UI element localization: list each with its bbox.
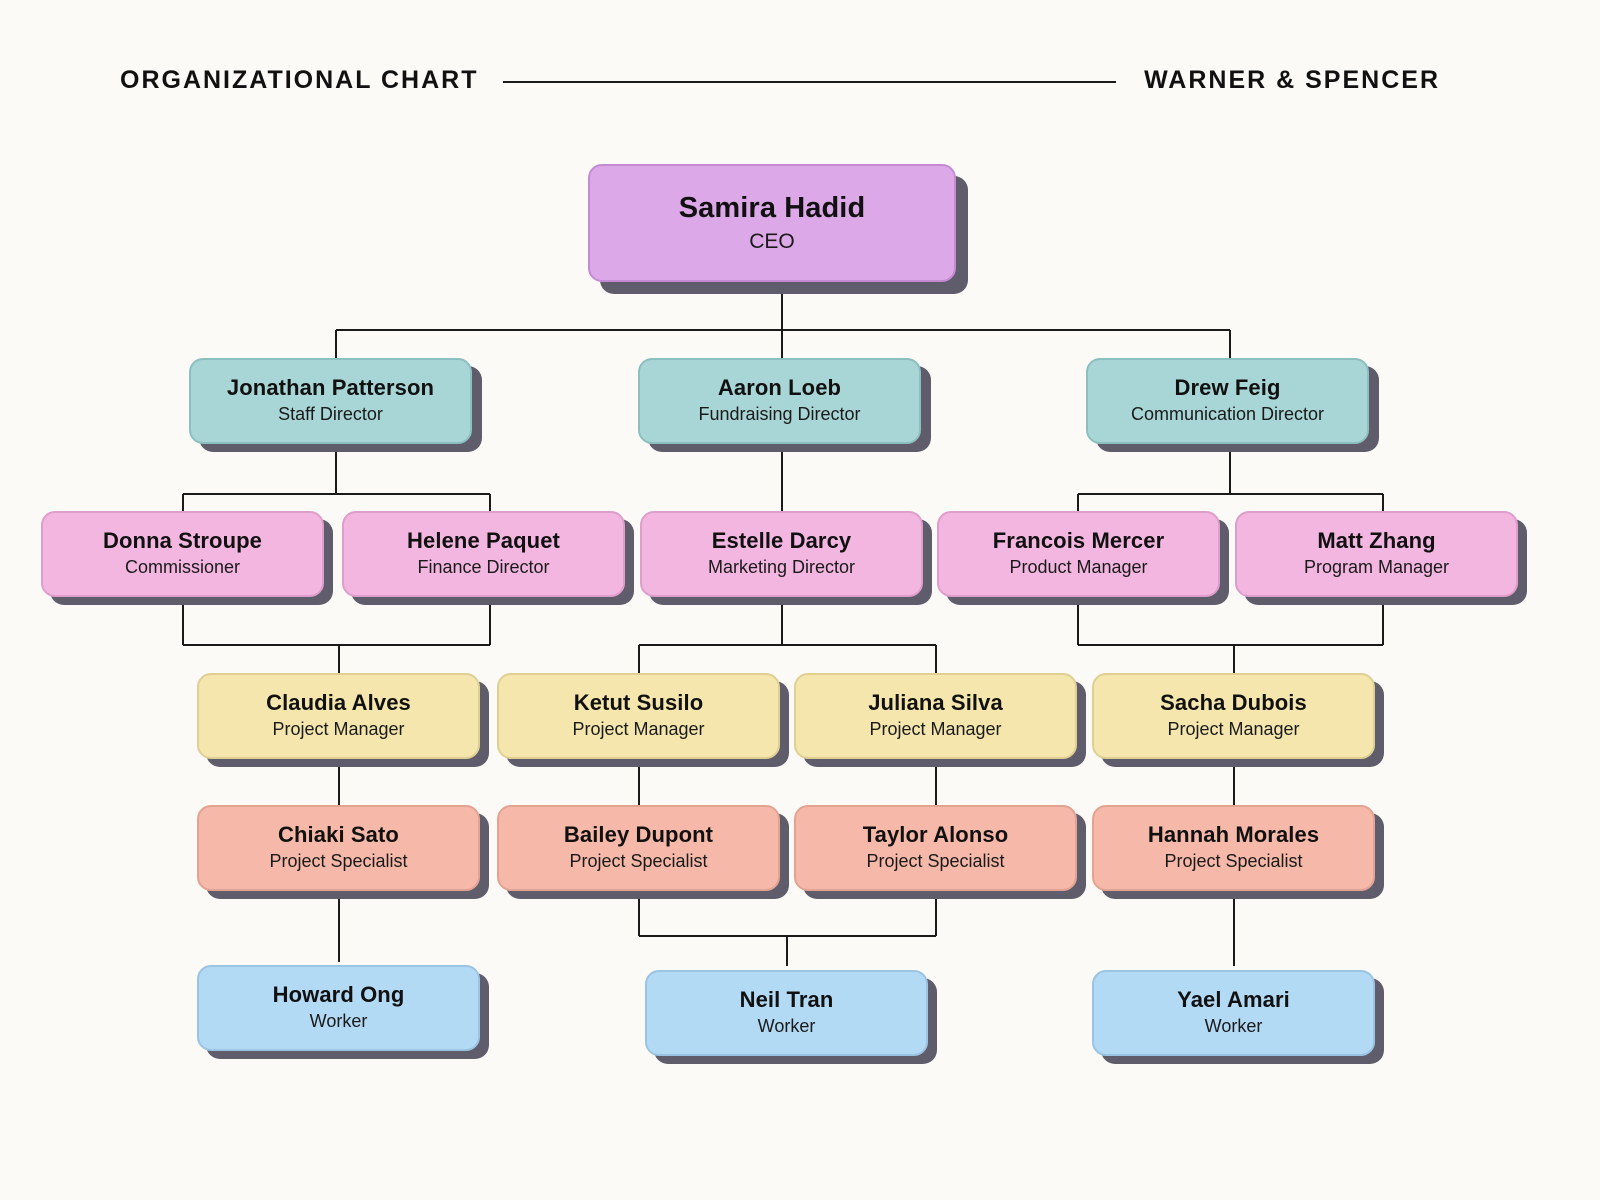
node-name: Francois Mercer bbox=[993, 529, 1164, 554]
node-name: Helene Paquet bbox=[407, 529, 560, 554]
node-helene-paquet[interactable]: Helene Paquet Finance Director bbox=[342, 511, 625, 597]
node-name: Neil Tran bbox=[740, 988, 834, 1013]
node-name: Claudia Alves bbox=[266, 691, 411, 716]
node-role: Worker bbox=[758, 1016, 816, 1038]
node-name: Howard Ong bbox=[273, 983, 405, 1008]
node-drew-feig[interactable]: Drew Feig Communication Director bbox=[1086, 358, 1369, 444]
node-role: Fundraising Director bbox=[698, 404, 860, 426]
node-name: Donna Stroupe bbox=[103, 529, 262, 554]
node-role: CEO bbox=[749, 229, 795, 254]
node-role: Project Specialist bbox=[269, 851, 407, 873]
node-role: Communication Director bbox=[1131, 404, 1324, 426]
node-claudia-alves[interactable]: Claudia Alves Project Manager bbox=[197, 673, 480, 759]
node-taylor-alonso[interactable]: Taylor Alonso Project Specialist bbox=[794, 805, 1077, 891]
node-name: Samira Hadid bbox=[679, 192, 866, 224]
node-name: Juliana Silva bbox=[868, 691, 1003, 716]
node-yael-amari[interactable]: Yael Amari Worker bbox=[1092, 970, 1375, 1056]
node-name: Aaron Loeb bbox=[718, 376, 841, 401]
node-samira-hadid[interactable]: Samira Hadid CEO bbox=[588, 164, 956, 282]
node-name: Ketut Susilo bbox=[574, 691, 704, 716]
node-role: Project Manager bbox=[1167, 719, 1299, 741]
node-jonathan-patterson[interactable]: Jonathan Patterson Staff Director bbox=[189, 358, 472, 444]
node-name: Jonathan Patterson bbox=[227, 376, 434, 401]
company-name: WARNER & SPENCER bbox=[1144, 66, 1440, 95]
node-francois-mercer[interactable]: Francois Mercer Product Manager bbox=[937, 511, 1220, 597]
node-name: Chiaki Sato bbox=[278, 823, 399, 848]
node-name: Matt Zhang bbox=[1317, 529, 1435, 554]
node-hannah-morales[interactable]: Hannah Morales Project Specialist bbox=[1092, 805, 1375, 891]
node-role: Project Specialist bbox=[569, 851, 707, 873]
node-role: Commissioner bbox=[125, 557, 240, 579]
node-neil-tran[interactable]: Neil Tran Worker bbox=[645, 970, 928, 1056]
node-role: Project Manager bbox=[869, 719, 1001, 741]
node-chiaki-sato[interactable]: Chiaki Sato Project Specialist bbox=[197, 805, 480, 891]
node-role: Finance Director bbox=[417, 557, 549, 579]
node-name: Yael Amari bbox=[1177, 988, 1290, 1013]
node-sacha-dubois[interactable]: Sacha Dubois Project Manager bbox=[1092, 673, 1375, 759]
node-role: Project Manager bbox=[572, 719, 704, 741]
node-aaron-loeb[interactable]: Aaron Loeb Fundraising Director bbox=[638, 358, 921, 444]
node-role: Project Specialist bbox=[1164, 851, 1302, 873]
chart-header: ORGANIZATIONAL CHART WARNER & SPENCER bbox=[0, 0, 1600, 140]
node-role: Marketing Director bbox=[708, 557, 855, 579]
node-role: Program Manager bbox=[1304, 557, 1449, 579]
node-donna-stroupe[interactable]: Donna Stroupe Commissioner bbox=[41, 511, 324, 597]
node-role: Worker bbox=[310, 1011, 368, 1033]
node-name: Drew Feig bbox=[1174, 376, 1280, 401]
node-role: Staff Director bbox=[278, 404, 383, 426]
node-role: Worker bbox=[1205, 1016, 1263, 1038]
node-matt-zhang[interactable]: Matt Zhang Program Manager bbox=[1235, 511, 1518, 597]
org-chart-page: ORGANIZATIONAL CHART WARNER & SPENCER bbox=[0, 0, 1600, 1200]
node-juliana-silva[interactable]: Juliana Silva Project Manager bbox=[794, 673, 1077, 759]
node-name: Hannah Morales bbox=[1148, 823, 1319, 848]
node-howard-ong[interactable]: Howard Ong Worker bbox=[197, 965, 480, 1051]
node-name: Estelle Darcy bbox=[712, 529, 852, 554]
node-ketut-susilo[interactable]: Ketut Susilo Project Manager bbox=[497, 673, 780, 759]
page-title: ORGANIZATIONAL CHART bbox=[120, 66, 479, 95]
node-role: Project Specialist bbox=[866, 851, 1004, 873]
node-name: Sacha Dubois bbox=[1160, 691, 1307, 716]
node-name: Taylor Alonso bbox=[863, 823, 1009, 848]
node-role: Product Manager bbox=[1009, 557, 1147, 579]
node-name: Bailey Dupont bbox=[564, 823, 713, 848]
node-role: Project Manager bbox=[272, 719, 404, 741]
node-estelle-darcy[interactable]: Estelle Darcy Marketing Director bbox=[640, 511, 923, 597]
header-divider bbox=[503, 81, 1116, 83]
node-bailey-dupont[interactable]: Bailey Dupont Project Specialist bbox=[497, 805, 780, 891]
